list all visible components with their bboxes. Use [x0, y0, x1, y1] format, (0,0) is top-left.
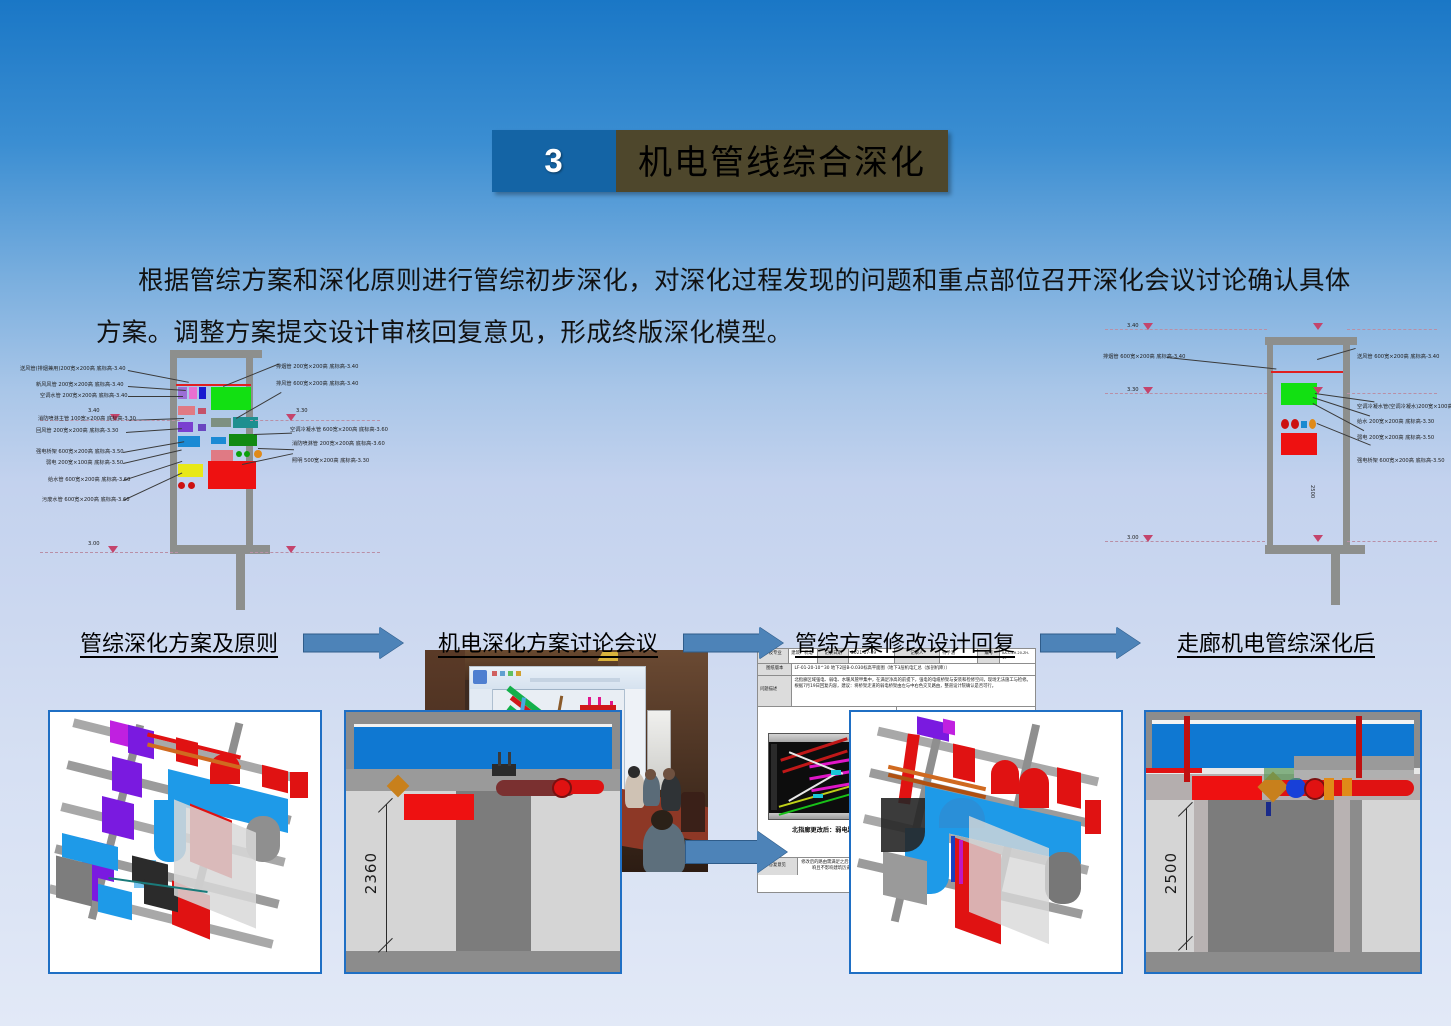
cad-section-after: 排烟管 600宽×200高 底标高-3.40 送风管 600宽×200高 底标高… [1085, 305, 1451, 605]
software-toolbar [470, 667, 645, 690]
process-caption-3: 走廊机电管综深化后 [1177, 626, 1375, 658]
cad-after-level-2: 3.00 [1127, 535, 1139, 541]
cad-after-callout-right-1: 空调冷凝水管(空调冷凝水)200宽×100高 底标高-3.30 [1357, 403, 1451, 410]
cad-callout-right-1: 排风管 600宽×200高 底标高-3.40 [276, 380, 358, 387]
dimension-label-2360: 2360 [362, 852, 380, 894]
slide-canvas: 3 机电管线综合深化 根据管综方案和深化原则进行管综初步深化，对深化过程发现的问… [0, 0, 1451, 1026]
cad-callout-left-2: 空调水管 200宽×200高 底标高-3.40 [40, 392, 128, 399]
process-caption-row: 管综深化方案及原则 机电深化方案讨论会议 管综方案修改设计回复 走廊机电管综深化… [0, 626, 1451, 666]
cad-callout-left-7: 给水管 600宽×200高 底标高-3.60 [48, 476, 130, 483]
cad-section-before: 送风管(排烟兼用)200宽×200高 底标高-3.40 新风风管 200宽×20… [18, 330, 418, 610]
bim-3d-before [48, 710, 322, 974]
slide-title-banner: 3 机电管线综合深化 [492, 130, 948, 192]
cad-callout-left-5: 强电桥架 600宽×200高 底标高-3.50 [36, 448, 124, 455]
process-caption-0: 管综深化方案及原则 [80, 626, 278, 658]
bim-compare-arrow [685, 830, 795, 874]
process-caption-2: 管综方案修改设计回复 [795, 626, 1015, 658]
cad-after-callout-right-3: 弱电 200宽×200高 底标高-3.50 [1357, 434, 1434, 441]
cad-callout-left-0: 送风管(排烟兼用)200宽×200高 底标高-3.40 [20, 365, 126, 372]
cad-after-callout-right-0: 送风管 600宽×200高 底标高-3.40 [1357, 353, 1439, 360]
cad-callout-left-3: 消防喷淋主管 100宽×200高 底标高-3.30 [38, 415, 136, 422]
cad-after-level-1: 3.30 [1127, 387, 1139, 393]
process-arrow-2 [1040, 626, 1140, 660]
cad-after-callout-left-0: 排烟管 600宽×200高 底标高-3.40 [1103, 353, 1185, 360]
cad-level-mark-0: 3.40 [88, 408, 100, 414]
cad-callout-right-4: 照明 500宽×200高 底标高-3.30 [292, 457, 369, 464]
cad-after-callout-right-4: 强电桥架 600宽×200高 底标高-3.50 [1357, 457, 1445, 464]
cad-callout-right-2: 空调冷凝水管 600宽×200高 底标高-3.60 [290, 426, 388, 433]
dimension-label-2500: 2500 [1162, 852, 1180, 894]
cad-callout-right-0: 排烟管 200宽×200高 底标高-3.40 [276, 363, 358, 370]
cad-level-mark-1: 3.30 [296, 408, 308, 414]
cad-callout-left-4: 回风管 200宽×200高 底标高-3.30 [36, 427, 118, 434]
cad-callout-left-6: 弱电 200宽×100高 底标高-3.50 [46, 459, 123, 466]
cad-after-level-0: 3.40 [1127, 323, 1139, 329]
cad-callout-left-8: 污废水管 600宽×200高 底标高-3.60 [42, 496, 130, 503]
page-title: 机电管线综合深化 [616, 130, 948, 192]
cad-callout-right-3: 消防喷淋管 200宽×200高 底标高-3.60 [292, 440, 385, 447]
process-visual-row: 送风管(排烟兼用)200宽×200高 底标高-3.40 新风风管 200宽×20… [0, 305, 1451, 605]
process-arrow-1 [683, 626, 783, 660]
form-label-problem: 问题描述 [758, 676, 792, 706]
section-number: 3 [492, 130, 616, 192]
process-arrow-0 [303, 626, 403, 660]
cad-after-clear-height: 2500 [1309, 485, 1315, 498]
form-value-problem: 北指廊区域强电、弱电、水暖风管甲集中，在满足净高的前提下，强电的电缆桥架与安装和… [792, 676, 1035, 706]
bim-3d-after [849, 710, 1123, 974]
cad-after-callout-right-2: 给水 200宽×200高 底标高-3.30 [1357, 418, 1434, 425]
bim-section-after: 2500 [1144, 710, 1422, 974]
cad-callout-left-1: 新风风管 200宽×200高 底标高-3.40 [36, 381, 124, 388]
process-caption-1: 机电深化方案讨论会议 [438, 626, 658, 658]
cad-level-mark-2: 3.00 [88, 541, 100, 547]
form-problem-row: 问题描述 北指廊区域强电、弱电、水暖风管甲集中，在满足净高的前提下，强电的电缆桥… [758, 676, 1035, 707]
bim-section-before: 2360 [344, 710, 622, 974]
